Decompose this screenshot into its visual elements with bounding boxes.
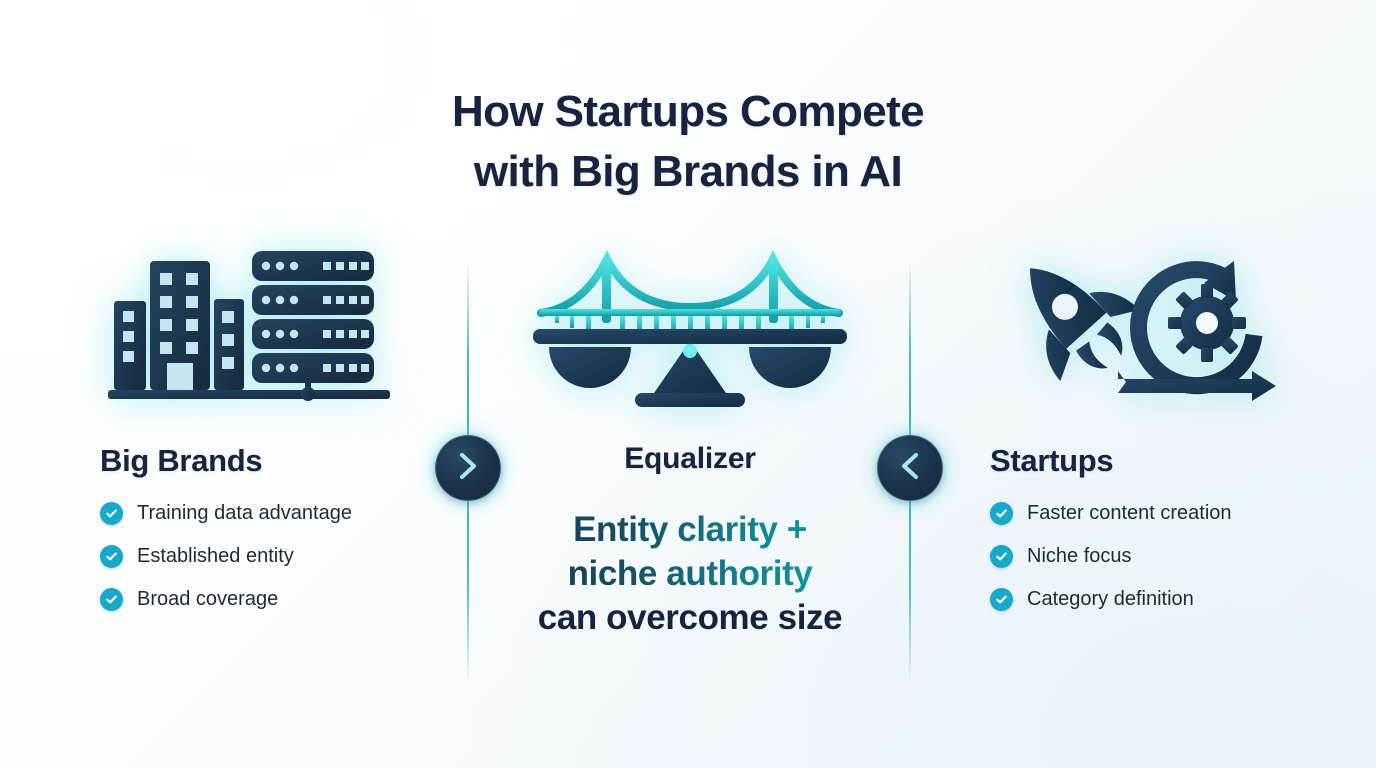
bullet-list-big-brands: Training data advantage Established enti…	[100, 499, 430, 613]
list-item-label: Established entity	[137, 544, 294, 568]
connector-right[interactable]	[877, 435, 943, 501]
chevron-left-icon	[897, 451, 923, 486]
rocket-and-agile-loop-icon	[990, 238, 1320, 413]
check-icon	[990, 588, 1013, 611]
check-icon	[100, 588, 123, 611]
list-item-label: Broad coverage	[137, 587, 278, 611]
list-item: Faster content creation	[990, 499, 1320, 527]
equalizer-statement: Entity clarity + niche authority can ove…	[490, 508, 890, 640]
column-startups: Startups Faster content creation Niche f…	[990, 238, 1320, 628]
statement-line-1: Entity clarity +	[490, 508, 890, 552]
equalizer-label: Equalizer	[490, 442, 890, 476]
check-icon	[100, 545, 123, 568]
page-title: How Startups Compete with Big Brands in …	[0, 82, 1376, 202]
statement-line-2: niche authority	[490, 552, 890, 596]
title-line-1: How Startups Compete	[0, 82, 1376, 142]
list-item: Training data advantage	[100, 499, 430, 527]
statement-line-3: can overcome size	[490, 596, 890, 640]
list-item: Established entity	[100, 542, 430, 570]
list-item-label: Training data advantage	[137, 501, 352, 525]
column-heading-big-brands: Big Brands	[100, 443, 430, 479]
list-item-label: Category definition	[1027, 587, 1194, 611]
chevron-right-icon	[455, 451, 481, 486]
buildings-and-servers-icon	[100, 238, 430, 413]
column-heading-startups: Startups	[990, 443, 1320, 479]
check-icon	[990, 545, 1013, 568]
bridge-balance-scale-icon	[490, 238, 890, 418]
column-big-brands: Big Brands Training data advantage Estab…	[100, 238, 430, 628]
check-icon	[100, 502, 123, 525]
connector-left[interactable]	[435, 435, 501, 501]
list-item: Broad coverage	[100, 585, 430, 613]
list-item: Niche focus	[990, 542, 1320, 570]
list-item-label: Faster content creation	[1027, 501, 1232, 525]
list-item: Category definition	[990, 585, 1320, 613]
infographic-canvas: How Startups Compete with Big Brands in …	[0, 0, 1376, 768]
check-icon	[990, 502, 1013, 525]
column-equalizer: Equalizer Entity clarity + niche authori…	[490, 238, 890, 640]
title-line-2: with Big Brands in AI	[0, 142, 1376, 202]
list-item-label: Niche focus	[1027, 544, 1132, 568]
bullet-list-startups: Faster content creation Niche focus Cate…	[990, 499, 1320, 613]
